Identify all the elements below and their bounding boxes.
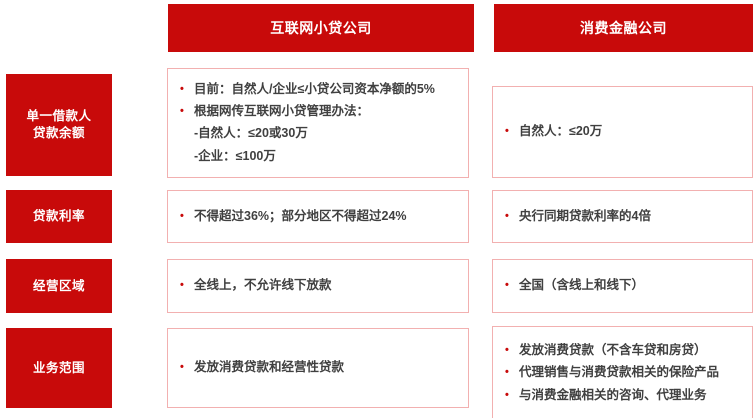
- cell-operating-region-consumer-finance: •全国（含线上和线下）: [492, 259, 753, 313]
- bullet-item-text: 代理销售与消费贷款相关的保险产品: [519, 363, 744, 382]
- row-label-text: 业务范围: [33, 360, 85, 377]
- row-label-line: 贷款余额: [26, 125, 91, 142]
- bullet-item-text: 全线上，不允许线下放款: [194, 276, 460, 295]
- bullet-item: •央行同期贷款利率的4倍: [499, 205, 744, 227]
- sub-item-text: -企业：≤100万: [194, 147, 460, 166]
- sub-item-text: -自然人：≤20或30万: [194, 124, 460, 143]
- comparison-table: 互联网小贷公司消费金融公司单一借款人贷款余额贷款利率经营区域业务范围•目前：自然…: [0, 0, 755, 418]
- bullet-item: •发放消费贷款（不含车贷和房贷）: [499, 339, 744, 361]
- bullet-item-text: 不得超过36%；部分地区不得超过24%: [194, 207, 460, 226]
- column-header-internet-micro-loan: 互联网小贷公司: [168, 4, 474, 52]
- cell-loan-interest-rate-internet-micro-loan: •不得超过36%；部分地区不得超过24%: [167, 190, 469, 243]
- bullet-dot-icon: •: [499, 207, 519, 226]
- bullet-item: •不得超过36%；部分地区不得超过24%: [174, 205, 460, 227]
- row-label-line: 单一借款人: [26, 108, 91, 125]
- cell-single-borrower-balance-consumer-finance: •自然人：≤20万: [492, 86, 753, 178]
- bullet-dot-icon: •: [174, 276, 194, 295]
- row-label-text: 单一借款人贷款余额: [26, 108, 91, 142]
- bullet-item-text: 央行同期贷款利率的4倍: [519, 207, 744, 226]
- bullet-dot-icon: •: [499, 363, 519, 382]
- bullet-item: •自然人：≤20万: [499, 121, 744, 143]
- bullet-item-text: 与消费金融相关的咨询、代理业务: [519, 386, 744, 405]
- column-header-label: 互联网小贷公司: [270, 19, 372, 38]
- bullet-item-text: 发放消费贷款（不含车贷和房贷）: [519, 341, 744, 360]
- cell-loan-interest-rate-consumer-finance: •央行同期贷款利率的4倍: [492, 190, 753, 243]
- row-label-single-borrower-balance: 单一借款人贷款余额: [6, 74, 112, 176]
- bullet-item: •目前：自然人/企业≤小贷公司资本净额的5%: [174, 78, 460, 100]
- column-header-label: 消费金融公司: [580, 19, 667, 38]
- bullet-item-text: 全国（含线上和线下）: [519, 276, 744, 295]
- row-label-line: 经营区域: [33, 278, 85, 295]
- bullet-dot-icon: •: [174, 207, 194, 226]
- row-label-text: 经营区域: [33, 278, 85, 295]
- row-label-text: 贷款利率: [33, 208, 85, 225]
- bullet-dot-icon: •: [499, 276, 519, 295]
- bullet-item: •代理销售与消费贷款相关的保险产品: [499, 362, 744, 384]
- cell-business-scope-consumer-finance: •发放消费贷款（不含车贷和房贷）•代理销售与消费贷款相关的保险产品•与消费金融相…: [492, 326, 753, 418]
- bullet-dot-icon: •: [174, 80, 194, 99]
- sub-item: -自然人：≤20或30万: [174, 123, 460, 145]
- bullet-item-text: 目前：自然人/企业≤小贷公司资本净额的5%: [194, 80, 460, 99]
- bullet-item-text: 根据网传互联网小贷管理办法：: [194, 102, 460, 121]
- bullet-item: •全国（含线上和线下）: [499, 275, 744, 297]
- row-label-line: 贷款利率: [33, 208, 85, 225]
- bullet-item: •根据网传互联网小贷管理办法：: [174, 100, 460, 122]
- bullet-dot-icon: •: [499, 341, 519, 360]
- column-header-consumer-finance: 消费金融公司: [494, 4, 753, 52]
- sub-item: -企业：≤100万: [174, 145, 460, 167]
- bullet-dot-icon: •: [174, 358, 194, 377]
- cell-operating-region-internet-micro-loan: •全线上，不允许线下放款: [167, 259, 469, 313]
- bullet-item-text: 自然人：≤20万: [519, 122, 744, 141]
- bullet-item-text: 发放消费贷款和经营性贷款: [194, 358, 460, 377]
- row-label-business-scope: 业务范围: [6, 328, 112, 408]
- cell-single-borrower-balance-internet-micro-loan: •目前：自然人/企业≤小贷公司资本净额的5%•根据网传互联网小贷管理办法：-自然…: [167, 68, 469, 178]
- bullet-dot-icon: •: [174, 102, 194, 121]
- cell-business-scope-internet-micro-loan: •发放消费贷款和经营性贷款: [167, 328, 469, 408]
- row-label-line: 业务范围: [33, 360, 85, 377]
- bullet-dot-icon: •: [499, 386, 519, 405]
- bullet-item: •与消费金融相关的咨询、代理业务: [499, 384, 744, 406]
- bullet-item: •全线上，不允许线下放款: [174, 275, 460, 297]
- bullet-item: •发放消费贷款和经营性贷款: [174, 357, 460, 379]
- row-label-loan-interest-rate: 贷款利率: [6, 190, 112, 243]
- row-label-operating-region: 经营区域: [6, 259, 112, 313]
- bullet-dot-icon: •: [499, 122, 519, 141]
